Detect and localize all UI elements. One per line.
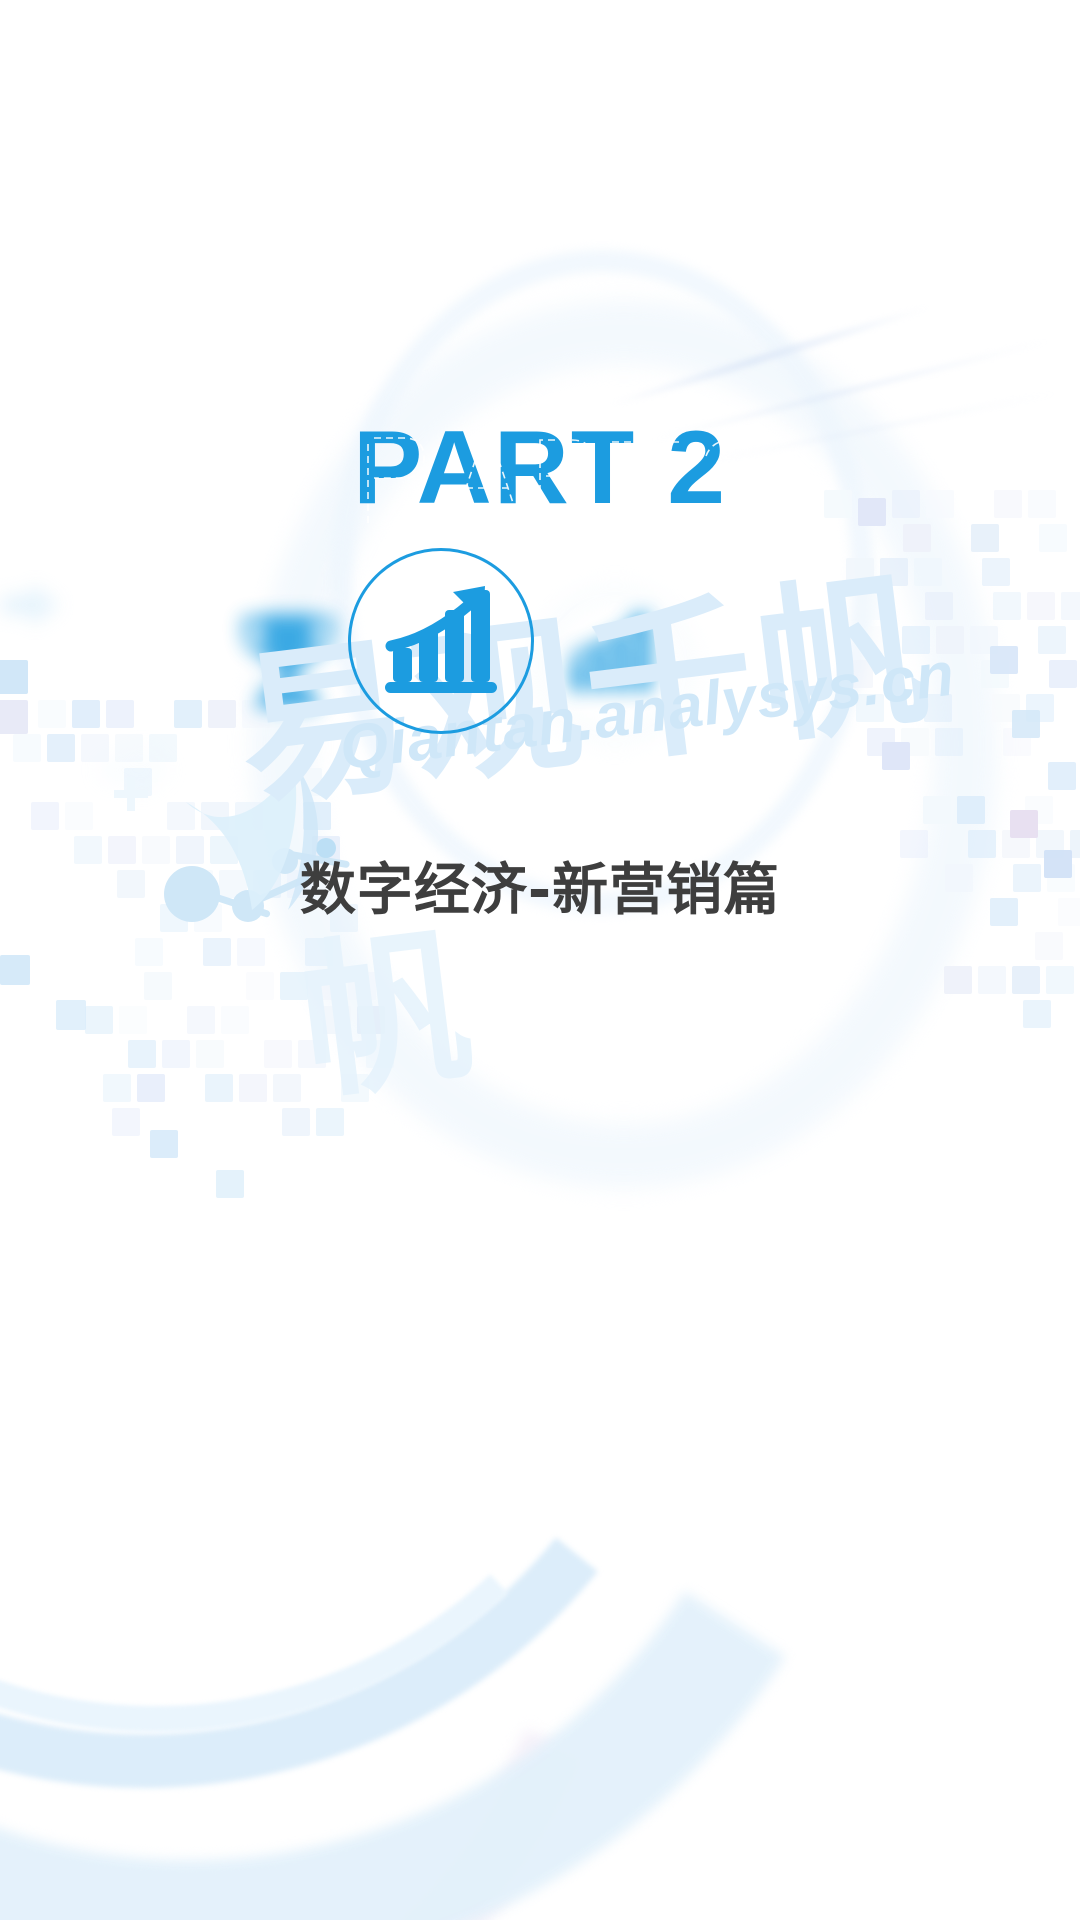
part-number-label: PART 2 (0, 416, 1080, 520)
section-icon-circle (348, 548, 534, 734)
slide-content: PART 2 (0, 0, 1080, 1920)
page-title: 数字经济-新营销篇 (0, 845, 1080, 926)
slide-root: 易观千帆 Qiantan.analysys.cn 帆 PART 2 (0, 0, 1080, 1920)
growth-bar-chart-icon (379, 582, 503, 700)
